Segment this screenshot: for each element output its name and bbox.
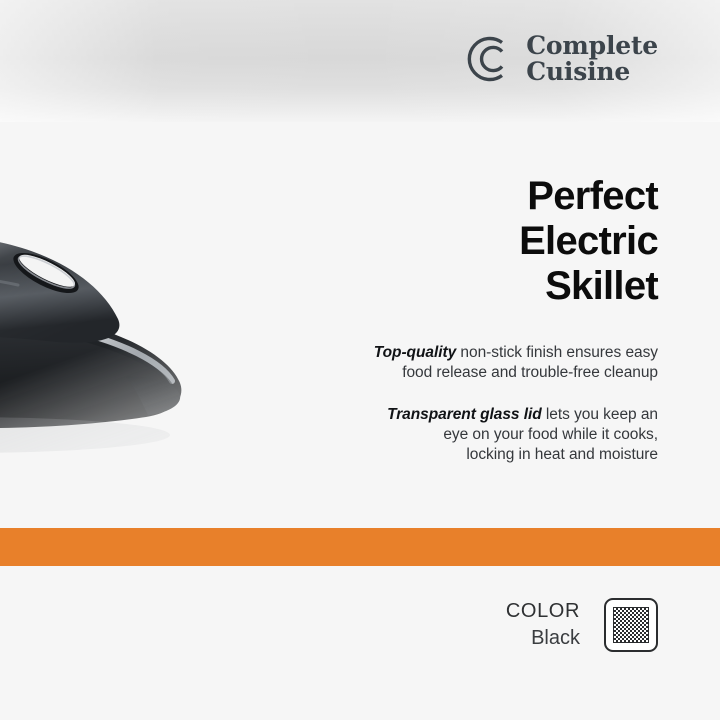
- orange-accent-band: [0, 528, 720, 566]
- color-selector[interactable]: COLOR Black: [506, 598, 658, 652]
- feature-item: Transparent glass lid lets you keep an e…: [358, 405, 658, 465]
- headline-line-1: Perfect: [358, 174, 658, 219]
- color-selector-labels: COLOR Black: [506, 600, 580, 650]
- headline-line-3: Skillet: [358, 264, 658, 309]
- feature-lead: Transparent glass lid: [387, 406, 542, 423]
- hero-copy: Perfect Electric Skillet Top-quality non…: [358, 174, 658, 465]
- color-label: COLOR: [506, 600, 580, 624]
- product-feature-page: Complete Cuisine: [0, 0, 720, 720]
- feature-lead: Top-quality: [374, 344, 456, 361]
- brand-wordmark: Complete Cuisine: [526, 33, 658, 85]
- brand-name-line-2: Cuisine: [526, 59, 658, 85]
- feature-item: Top-quality non-stick finish ensures eas…: [358, 343, 658, 383]
- double-c-arc-monogram-icon: [458, 30, 516, 88]
- headline-line-2: Electric: [358, 219, 658, 264]
- checker-pattern-swatch-icon: [613, 607, 649, 643]
- color-swatch-button[interactable]: [604, 598, 658, 652]
- page-title: Perfect Electric Skillet: [358, 174, 658, 309]
- brand-name-line-1: Complete: [526, 33, 658, 59]
- color-value: Black: [506, 627, 580, 651]
- brand-logo[interactable]: Complete Cuisine: [458, 30, 658, 88]
- black-electric-skillet-with-glass-lid-image: [0, 227, 310, 517]
